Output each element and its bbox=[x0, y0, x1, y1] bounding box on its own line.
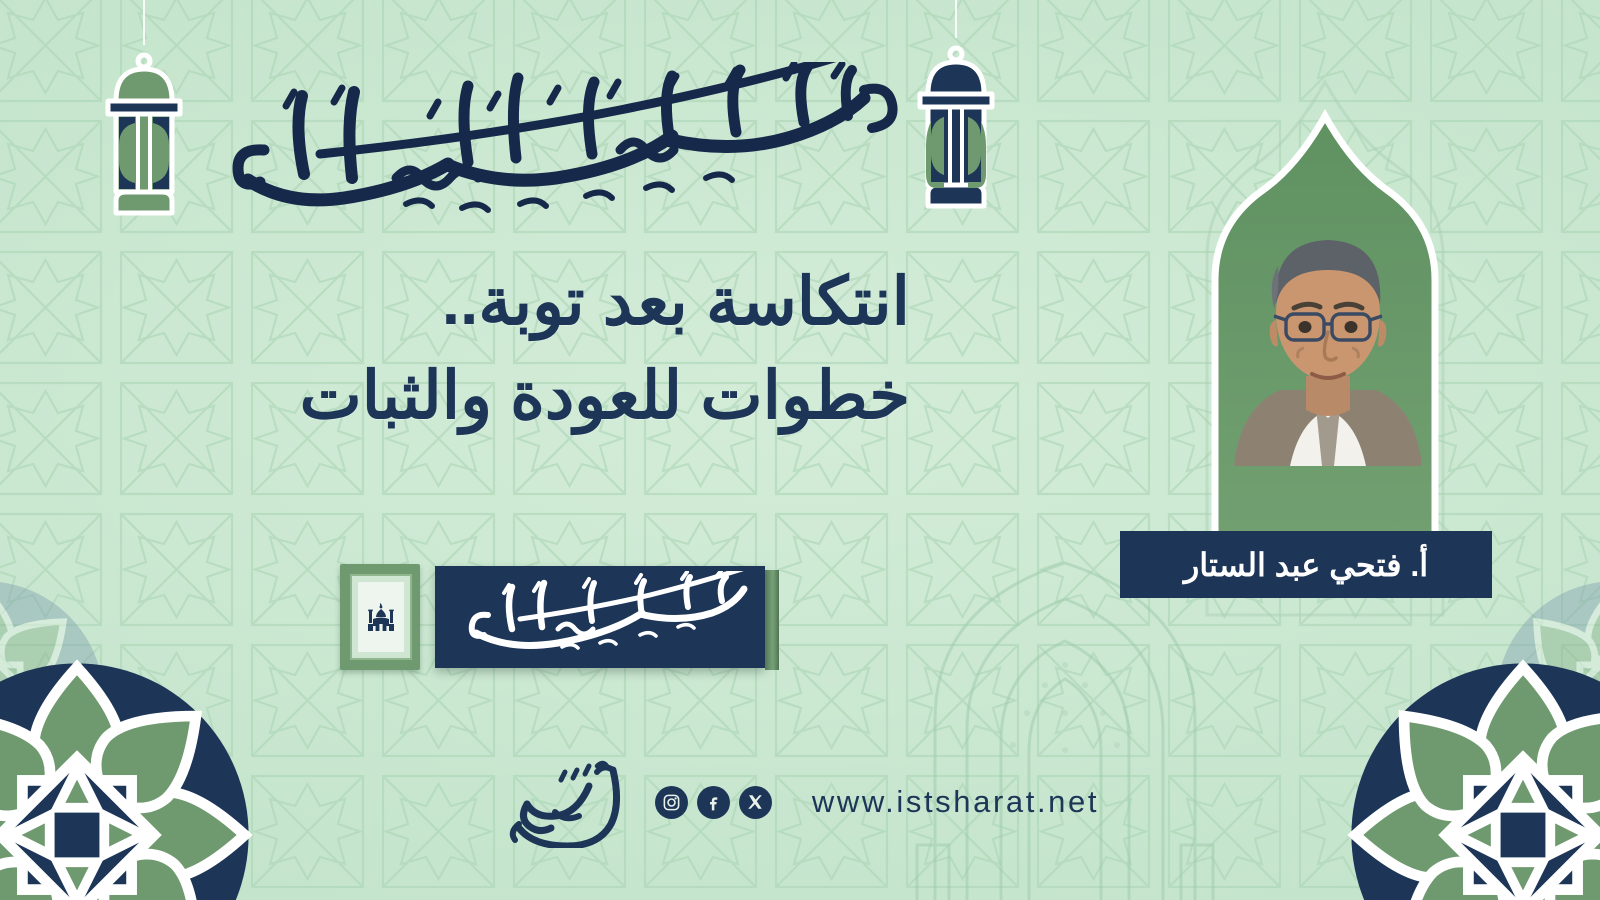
instagram-icon[interactable] bbox=[655, 786, 688, 819]
speaker-nameplate: أ. فتحي عبد الستار bbox=[1120, 531, 1492, 598]
hanging-lantern-green bbox=[100, 45, 188, 220]
banner-side-edge bbox=[765, 570, 779, 670]
poster-canvas: بوابة الاستشارات الإلكترونية bbox=[0, 0, 1600, 900]
hanging-lantern-navy bbox=[912, 38, 1000, 213]
facebook-icon[interactable] bbox=[697, 786, 730, 819]
program-banner-calligraphy: استشارات إيمانية bbox=[450, 571, 750, 663]
x-twitter-icon[interactable] bbox=[739, 786, 772, 819]
speaker-name: أ. فتحي عبد الستار bbox=[1184, 546, 1428, 584]
footer-logo-calligraphy: المجتمع bbox=[501, 756, 629, 848]
program-banner-label-plate: استشارات إيمانية bbox=[435, 566, 765, 668]
footer-bar: المجتمع bbox=[0, 752, 1600, 852]
social-links bbox=[655, 786, 772, 819]
poster-titles: انتكاسة بعد توبة.. خطوات للعودة والثبات bbox=[90, 255, 910, 442]
lantern-string bbox=[143, 0, 145, 45]
title-line-2: خطوات للعودة والثبات bbox=[90, 349, 910, 443]
speaker-portrait-photo: speaker-portrait-photo bbox=[1228, 208, 1428, 466]
website-url[interactable]: www.istsharat.net bbox=[812, 784, 1099, 820]
speaker-portrait-block: speaker-portrait-photo bbox=[1100, 76, 1550, 621]
program-banner: استشارات إيمانية bbox=[340, 556, 780, 678]
lantern-string bbox=[955, 0, 957, 38]
mosque-icon-plate bbox=[358, 582, 404, 652]
title-line-1: انتكاسة بعد توبة.. bbox=[90, 255, 910, 349]
header-calligraphy-portal-title: بوابة الاستشارات الإلكترونية bbox=[200, 62, 915, 232]
mosque-icon bbox=[364, 600, 398, 634]
